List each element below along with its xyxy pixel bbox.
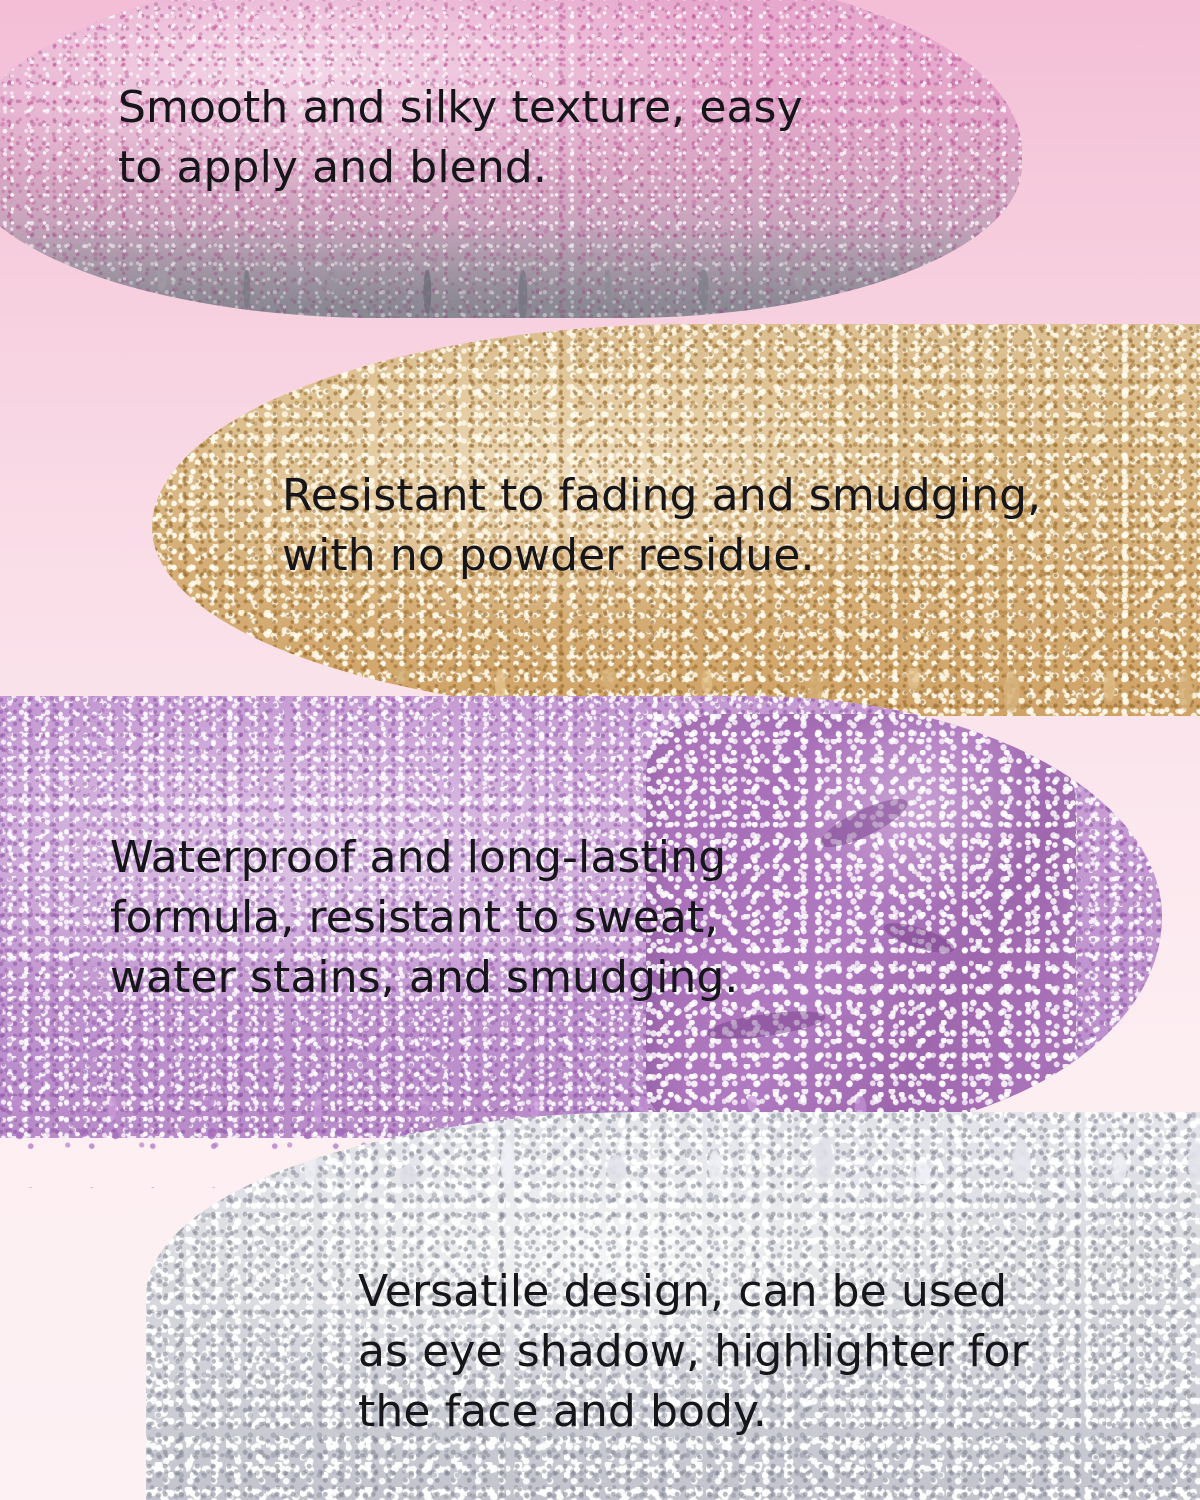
feature-text-versatile-design: Versatile design, can be used as eye sha… (358, 1262, 1148, 1441)
product-feature-image: Smooth and silky texture, easy to apply … (0, 0, 1200, 1500)
silver-swatch-top-fringe (146, 1112, 1200, 1184)
pink-swatch-bottom-fringe (0, 270, 1022, 318)
feature-text-waterproof: Waterproof and long-lasting formula, res… (110, 828, 870, 1007)
feature-text-smooth-texture: Smooth and silky texture, easy to apply … (118, 78, 918, 198)
feature-text-fade-resistant: Resistant to fading and smudging, with n… (282, 466, 1162, 586)
